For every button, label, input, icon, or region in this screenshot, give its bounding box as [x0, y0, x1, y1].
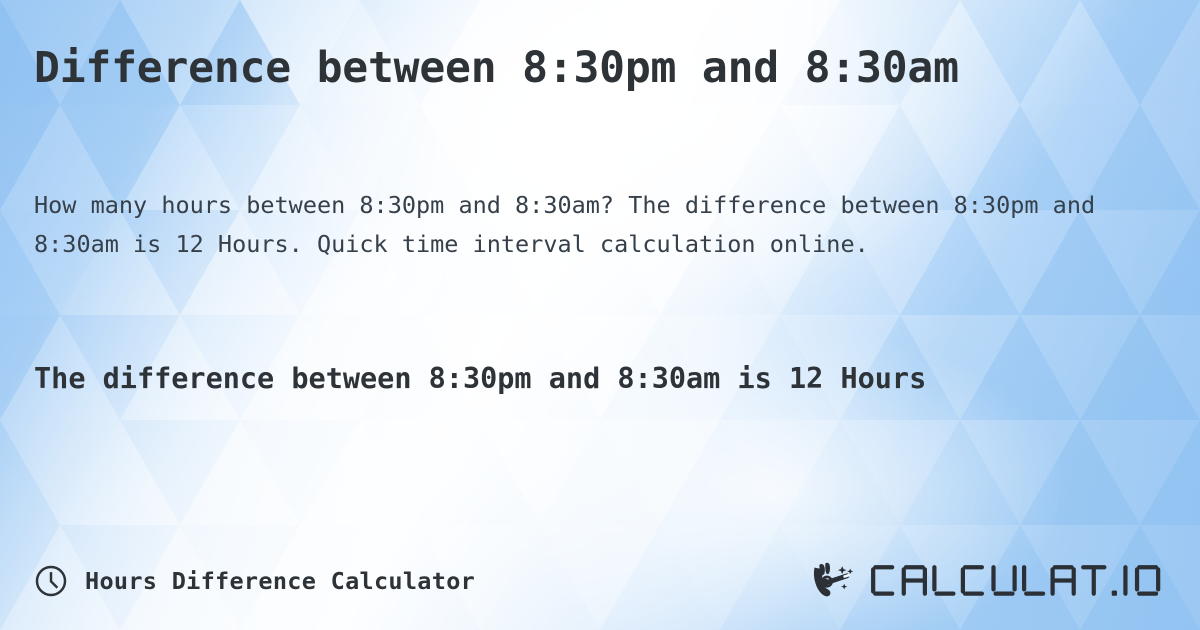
footer: Hours Difference Calculator [0, 558, 1200, 604]
calculator-label-group[interactable]: Hours Difference Calculator [34, 564, 475, 598]
clock-icon [34, 564, 68, 598]
og-card: Difference between 8:30pm and 8:30am How… [0, 0, 1200, 630]
intro-paragraph: How many hours between 8:30pm and 8:30am… [34, 186, 1144, 264]
page-title: Difference between 8:30pm and 8:30am [34, 42, 1169, 94]
brand-logo[interactable]: CALCULAT.IO [811, 561, 1166, 601]
magic-wand-hand-icon [811, 561, 863, 601]
calculatio-wordmark: CALCULAT.IO [870, 562, 1166, 600]
result-heading: The difference between 8:30pm and 8:30am… [34, 354, 1159, 403]
calculator-name-label: Hours Difference Calculator [85, 567, 475, 595]
content-area: Difference between 8:30pm and 8:30am How… [0, 0, 1200, 630]
